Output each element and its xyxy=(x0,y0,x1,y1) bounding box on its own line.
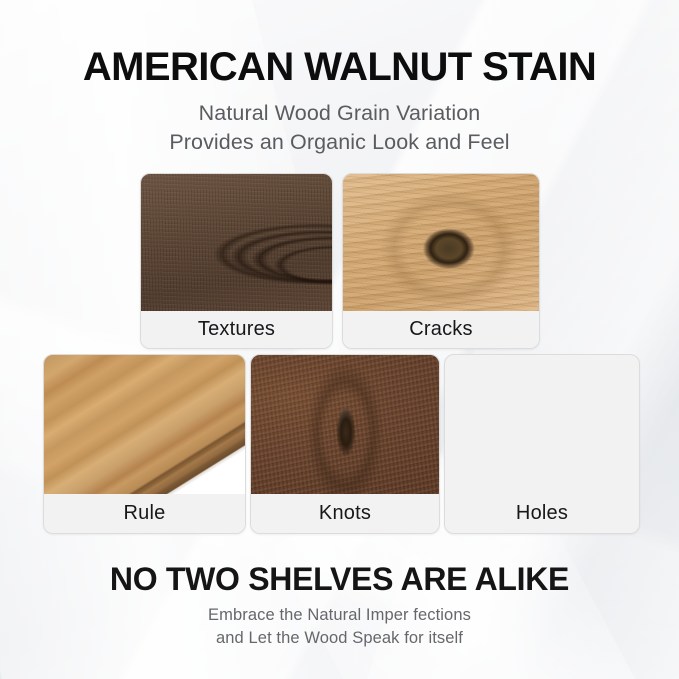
feature-photo-rule xyxy=(44,355,245,495)
footer-headline: NO TWO SHELVES ARE ALIKE xyxy=(0,561,679,598)
wood-texture-dark-walnut xyxy=(141,174,332,312)
feature-card-knots: Knots xyxy=(250,354,440,534)
wood-texture-knot-scar xyxy=(251,355,439,495)
feature-card-cracks: Cracks xyxy=(342,173,540,349)
main-headline: AMERICAN WALNUT STAIN xyxy=(0,46,679,88)
feature-photo-cracks xyxy=(343,174,539,312)
feature-card-rule: Rule xyxy=(43,354,246,534)
feature-photo-textures xyxy=(141,174,332,312)
feature-label-knots: Knots xyxy=(251,494,439,533)
feature-photo-knots xyxy=(251,355,439,495)
feature-photo-holes xyxy=(445,355,639,495)
wood-texture-plank-edge xyxy=(44,355,245,495)
feature-label-cracks: Cracks xyxy=(343,311,539,348)
footer-subheadline-line-1: Embrace the Natural Imper fections xyxy=(0,604,679,627)
footer-subheadline-line-2: and Let the Wood Speak for itself xyxy=(0,627,679,650)
feature-card-textures: Textures xyxy=(140,173,333,349)
main-subheadline-line-1: Natural Wood Grain Variation xyxy=(0,99,679,128)
feature-card-holes: Holes xyxy=(444,354,640,534)
feature-label-rule: Rule xyxy=(44,494,245,533)
feature-label-holes: Holes xyxy=(445,494,639,533)
feature-label-textures: Textures xyxy=(141,311,332,348)
wood-texture-pin-hole xyxy=(445,355,639,495)
footer-subheadline: Embrace the Natural Imper fections and L… xyxy=(0,604,679,651)
main-subheadline: Natural Wood Grain Variation Provides an… xyxy=(0,99,679,156)
main-subheadline-line-2: Provides an Organic Look and Feel xyxy=(0,128,679,157)
wood-texture-knot-crack xyxy=(343,174,539,312)
poster-content: AMERICAN WALNUT STAIN Natural Wood Grain… xyxy=(0,0,679,679)
